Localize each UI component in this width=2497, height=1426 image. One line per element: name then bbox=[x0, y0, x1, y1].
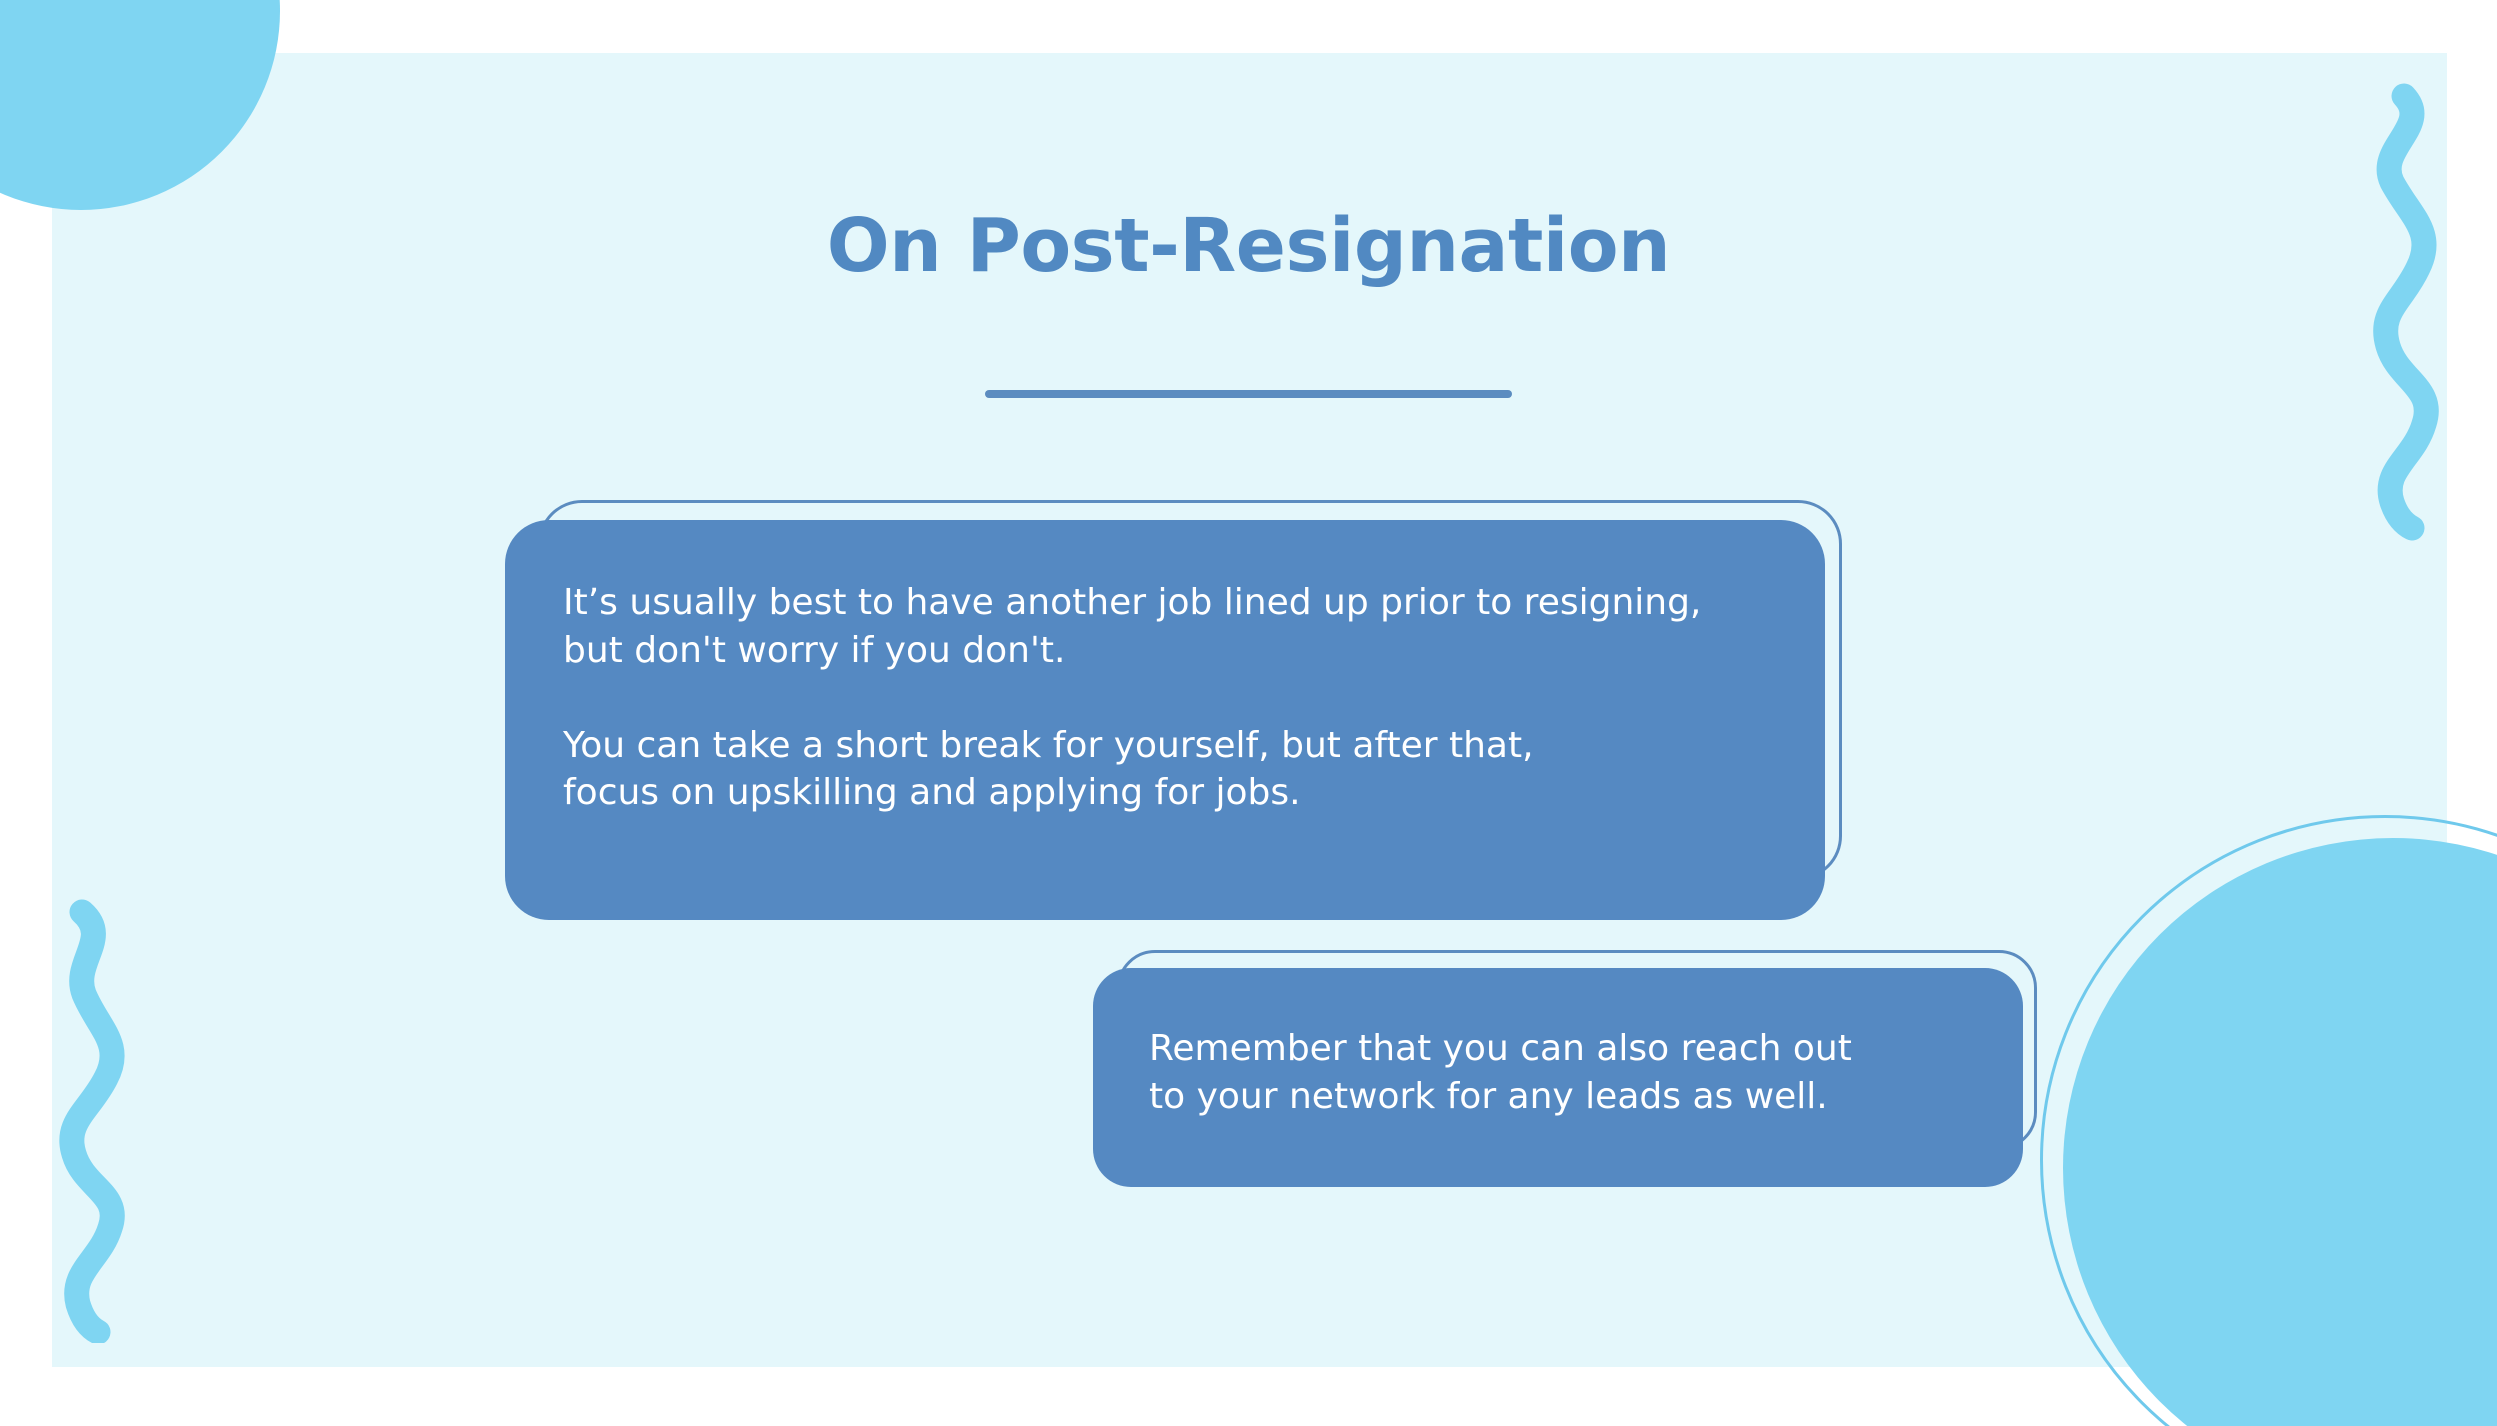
page-title: On Post-Resignation bbox=[0, 208, 2497, 286]
squiggle-left-decoration bbox=[50, 898, 140, 1343]
callout-text-primary: It’s usually best to have another job li… bbox=[505, 520, 1825, 920]
callout-box-secondary: Remember that you can also reach out to … bbox=[1093, 950, 2053, 1187]
callout-box-primary: It’s usually best to have another job li… bbox=[505, 500, 1850, 920]
squiggle-right-decoration bbox=[2362, 82, 2452, 542]
title-divider bbox=[985, 390, 1512, 398]
slide-canvas: On Post-Resignation It’s usually best to… bbox=[0, 0, 2497, 1426]
callout-text-secondary: Remember that you can also reach out to … bbox=[1093, 968, 2023, 1187]
